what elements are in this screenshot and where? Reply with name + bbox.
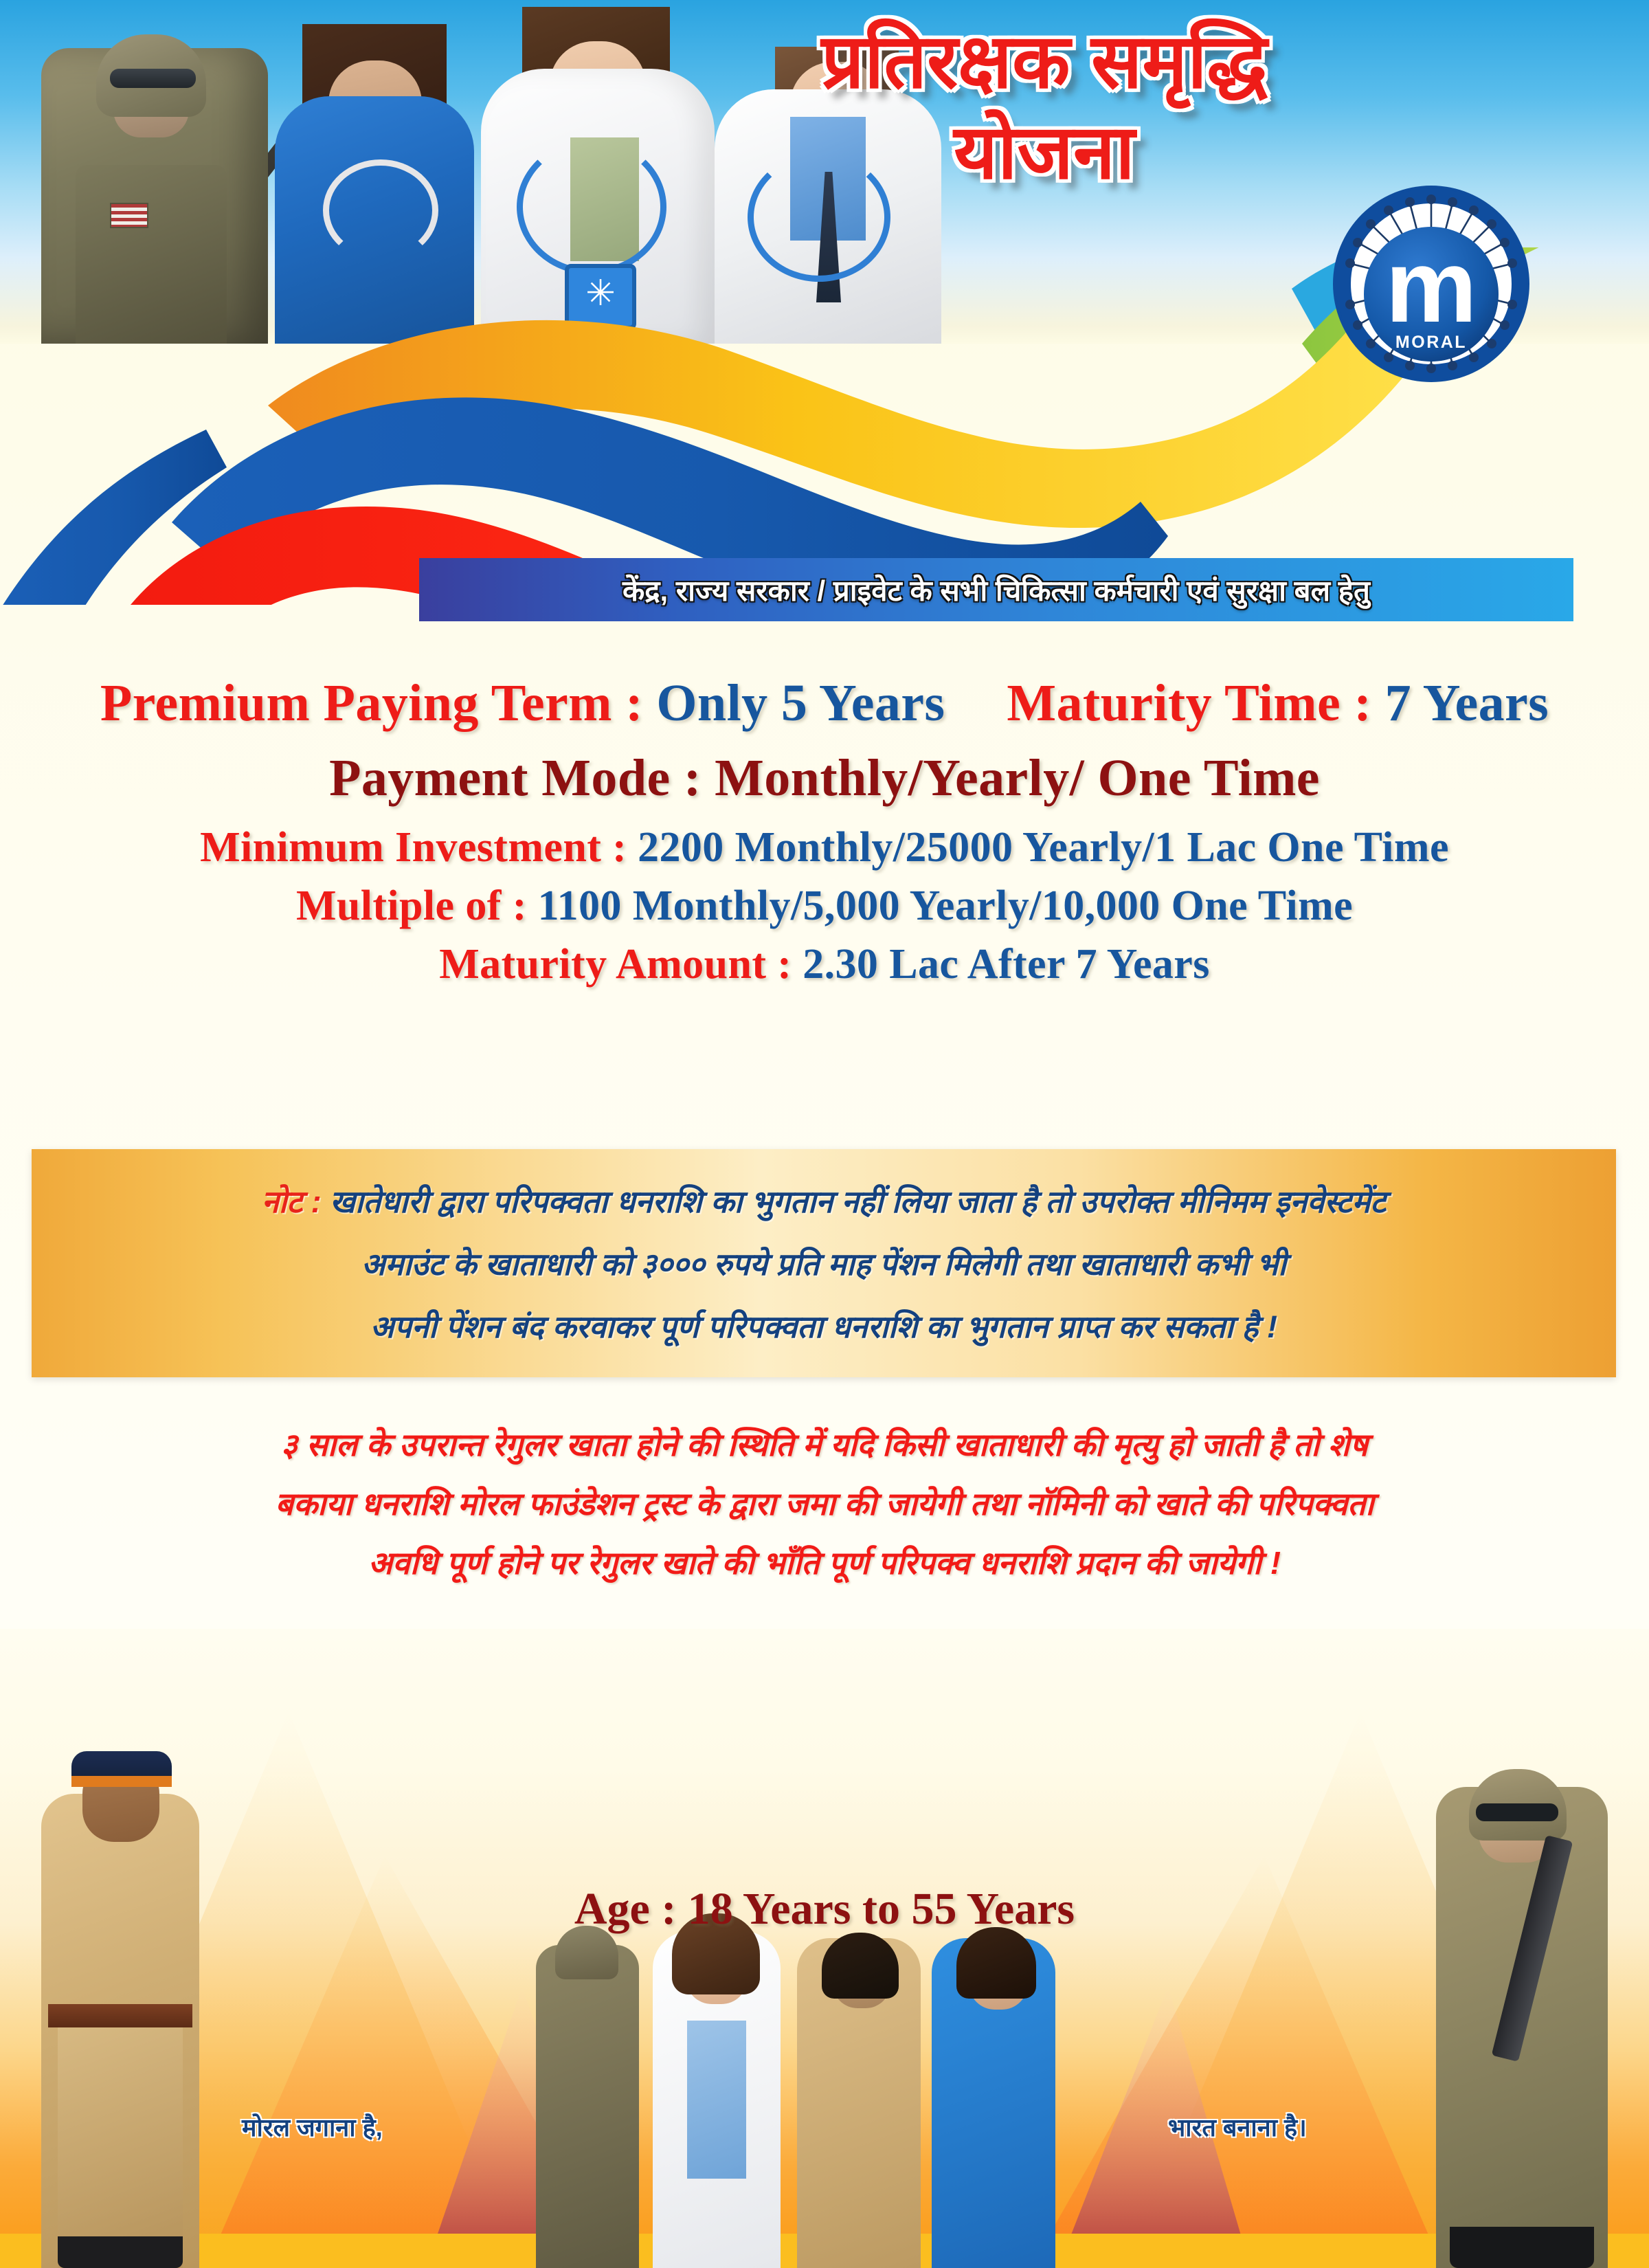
note-prefix: नोट :: [262, 1184, 330, 1219]
age-criteria: Age : 18 Years to 55 Years: [0, 1883, 1649, 1935]
army-boots: [1450, 2227, 1594, 2268]
premium-paying-term-label: Premium Paying Term :: [100, 674, 657, 732]
page-title: प्रतिरक्षक समृद्धि योजना: [680, 19, 1409, 197]
police-belt: [48, 2004, 192, 2027]
tagline-right: भारत बनाना है।: [1168, 2110, 1307, 2144]
logo-letter-m: m: [1385, 228, 1477, 344]
death-clause-line-1: ३ साल के उपरान्त रेगुलर खाता होने की स्थ…: [0, 1423, 1649, 1465]
age-criteria-text: Age : 18 Years to 55 Years: [574, 1884, 1075, 1934]
multiple-of: Multiple of : 1100 Monthly/5,000 Yearly/…: [0, 882, 1649, 931]
death-clause-line-3: अवधि पूर्ण होने पर रेगुलर खाते की भाँति …: [0, 1541, 1649, 1583]
police-cap-band: [71, 1776, 172, 1787]
title-line-2: योजना: [680, 108, 1409, 197]
multiple-of-label: Multiple of :: [296, 882, 538, 929]
term-row: Premium Paying Term : Only 5 Years Matur…: [0, 674, 1649, 733]
soldier-goggles: [110, 69, 196, 88]
tagline-left: मोरल जगाना है,: [242, 2110, 383, 2144]
center-soldier-body: [536, 1945, 639, 2268]
multiple-of-value: 1100 Monthly/5,000 Yearly/10,000 One Tim…: [538, 882, 1353, 929]
note-line-2: अमाउंट के खाताधारी को ३००० रुपये प्रति म…: [361, 1243, 1286, 1285]
maturity-amount: Maturity Amount : 2.30 Lac After 7 Years: [0, 940, 1649, 989]
moral-logo: m MORAL: [1332, 184, 1531, 383]
police-shoes: [58, 2236, 183, 2268]
note-line-3: अपनी पेंशन बंद करवाकर पूर्ण परिपक्वता धन…: [370, 1305, 1277, 1347]
logo-wordmark: MORAL: [1395, 333, 1467, 352]
maturity-time-value: 7 Years: [1385, 674, 1549, 732]
minimum-investment-label: Minimum Investment :: [200, 824, 638, 871]
note-box: नोट : खातेधारी द्वारा परिपक्वता धनराशि क…: [32, 1149, 1616, 1377]
center-doctor-scrubs: [687, 2021, 746, 2179]
death-clause-paragraph: ३ साल के उपरान्त रेगुलर खाता होने की स्थ…: [0, 1423, 1649, 1600]
center-nurse-hair: [956, 1927, 1036, 1999]
death-clause-line-2: बकाया धनराशि मोरल फाउंडेशन ट्रस्ट के द्व…: [0, 1482, 1649, 1524]
center-police-hair: [822, 1933, 899, 1999]
maturity-amount-label: Maturity Amount :: [439, 941, 803, 988]
eligibility-banner-text: केंद्र, राज्य सरकार / प्राइवेट के सभी चि…: [622, 570, 1370, 610]
army-sunglasses-icon: [1476, 1803, 1558, 1821]
flag-patch-icon: [110, 203, 148, 228]
eligibility-banner: केंद्र, राज्य सरकार / प्राइवेट के सभी चि…: [419, 558, 1573, 621]
note-line-1: नोट : खातेधारी द्वारा परिपक्वता धनराशि क…: [262, 1180, 1386, 1222]
minimum-investment-value: 2200 Monthly/25000 Yearly/1 Lac One Time: [638, 824, 1449, 871]
premium-paying-term-value: Only 5 Years: [656, 674, 945, 732]
stethoscope-icon: [323, 159, 438, 261]
scheme-details: Premium Paying Term : Only 5 Years Matur…: [0, 674, 1649, 989]
note-line-1-text: खातेधारी द्वारा परिपक्वता धनराशि का भुगत…: [330, 1184, 1386, 1219]
maturity-time-label: Maturity Time :: [1007, 674, 1384, 732]
minimum-investment: Minimum Investment : 2200 Monthly/25000 …: [0, 823, 1649, 872]
footer-scene: [0, 1629, 1649, 2268]
premium-paying-term: Premium Paying Term : Only 5 Years: [100, 674, 945, 733]
title-line-1: प्रतिरक्षक समृद्धि: [680, 19, 1409, 104]
maturity-amount-value: 2.30 Lac After 7 Years: [803, 941, 1210, 988]
poster-root: प्रतिरक्षक समृद्धि योजना: [0, 0, 1649, 2268]
police-legs: [58, 2021, 183, 2268]
maturity-time: Maturity Time : 7 Years: [1007, 674, 1549, 733]
payment-mode-line: Payment Mode : Monthly/Yearly/ One Time: [0, 748, 1649, 808]
